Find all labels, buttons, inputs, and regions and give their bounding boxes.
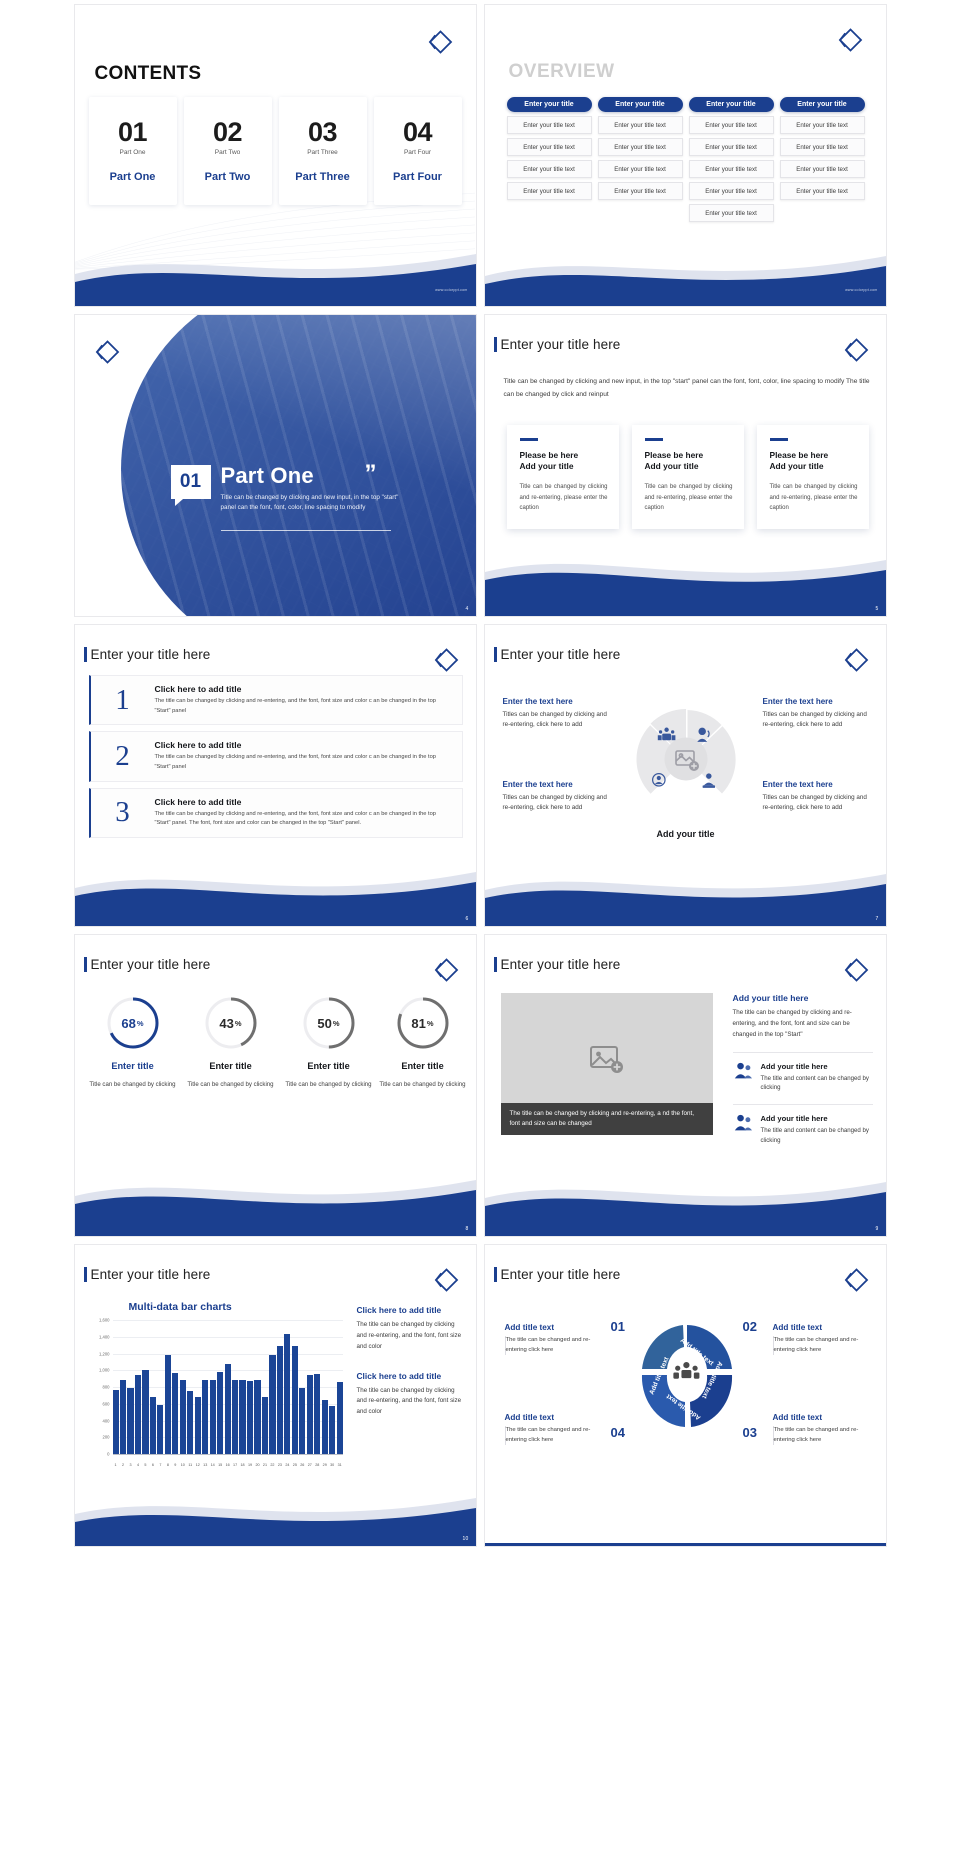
- page-number: 4: [466, 606, 469, 612]
- footer-wave: [485, 1174, 886, 1236]
- side-content: Add your title here The title can be cha…: [733, 993, 873, 1146]
- stat-desc: Title can be changed by clicking: [183, 1080, 279, 1090]
- cycle-ring-diagram: Add title text Add title text Add title …: [633, 1317, 741, 1435]
- overview-cell[interactable]: Enter your title text: [689, 204, 774, 222]
- feature-card[interactable]: Please be here Add your title Title can …: [507, 425, 619, 529]
- page-title: Enter your title here: [501, 337, 621, 352]
- percent-unit: %: [333, 1019, 340, 1028]
- card-accent-dash: [520, 438, 538, 441]
- slide-cycle-diagram: Enter your title here Add title text The…: [484, 1244, 887, 1547]
- stat-desc: Title can be changed by clicking: [85, 1080, 181, 1090]
- chart-x-tick-label: 13: [202, 1463, 208, 1467]
- row-paragraph: The title can be changed by clicking and…: [155, 697, 452, 716]
- chart-bar: [165, 1355, 171, 1456]
- block-heading: Enter the text here: [503, 780, 613, 789]
- stat-label: Enter title: [281, 1061, 377, 1071]
- percent-value: 50: [317, 1016, 331, 1031]
- row-heading: Click here to add title: [155, 684, 452, 694]
- chart-x-tick-label: 1: [113, 1463, 119, 1467]
- overview-column: Enter your title Enter your title text E…: [689, 97, 774, 222]
- overview-cell[interactable]: Enter your title text: [780, 138, 865, 156]
- slide-numbered-list: Enter your title here 1 Click here to ad…: [74, 624, 477, 927]
- block-paragraph: Titles can be changed by clicking and re…: [763, 710, 873, 731]
- row-heading: Click here to add title: [155, 740, 452, 750]
- cycle-number: 03: [743, 1425, 757, 1440]
- card-heading-1: Please be here: [770, 450, 858, 461]
- footer-wave: [485, 244, 886, 306]
- chart-x-tick-label: 31: [337, 1463, 343, 1467]
- cycle-number: 04: [611, 1425, 625, 1440]
- chart-x-tick-label: 26: [299, 1463, 305, 1467]
- numbered-row[interactable]: 2 Click here to add title The title can …: [89, 731, 463, 781]
- chart-x-tick-label: 22: [269, 1463, 275, 1467]
- chart-bar: [195, 1397, 201, 1455]
- chart-x-tick-label: 14: [210, 1463, 216, 1467]
- diagram-text-block: Enter the text here Titles can be change…: [763, 780, 873, 814]
- percent-stat: 43% Enter title Title can be changed by …: [183, 995, 279, 1090]
- overview-column: Enter your title Enter your title text E…: [507, 97, 592, 222]
- chart-bar: [127, 1388, 133, 1455]
- quadrant-paragraph: The title can be changed and re-entering…: [773, 1336, 869, 1355]
- overview-cell[interactable]: Enter your title text: [507, 138, 592, 156]
- chart-x-tick-label: 27: [307, 1463, 313, 1467]
- brand-logo-icon: [424, 27, 454, 57]
- chart-x-tick-label: 15: [217, 1463, 223, 1467]
- side-heading: Add your title here: [733, 993, 873, 1003]
- item-heading: Add your title here: [761, 1062, 873, 1071]
- title-accent-bar: [494, 647, 498, 662]
- chart-bar: [187, 1391, 193, 1455]
- page-title: Enter your title here: [501, 957, 621, 972]
- numbered-row[interactable]: 3 Click here to add title The title can …: [89, 788, 463, 838]
- card-number: 02: [213, 119, 242, 146]
- brand-logo-icon: [834, 25, 864, 55]
- chart-y-tick-label: 0: [107, 1452, 109, 1457]
- chart-y-tick-label: 200: [103, 1435, 110, 1440]
- chart-y-tick-label: 1,000: [99, 1368, 109, 1373]
- chart-bar: [217, 1372, 223, 1455]
- slide-percent-rings: Enter your title here 68% Enter title Ti…: [74, 934, 477, 1237]
- brand-logo-icon: [430, 955, 460, 985]
- footer-wave: [75, 864, 476, 926]
- numbered-row[interactable]: 1 Click here to add title The title can …: [89, 675, 463, 725]
- block-paragraph: Titles can be changed by clicking and re…: [503, 710, 613, 731]
- chart-x-tick-label: 5: [142, 1463, 148, 1467]
- card-accent-dash: [645, 438, 663, 441]
- chart-y-tick-label: 1,200: [99, 1351, 109, 1356]
- chart-axis-line: [113, 1454, 343, 1455]
- overview-cell[interactable]: Enter your title text: [689, 182, 774, 200]
- footer-bar: [485, 1543, 886, 1546]
- chart-bar: [322, 1400, 328, 1455]
- card-heading-2: Add your title: [520, 461, 608, 472]
- chart-bar: [225, 1364, 231, 1455]
- chart-bar: [142, 1370, 148, 1455]
- feature-card-list: Please be here Add your title Title can …: [507, 425, 869, 529]
- card-heading-1: Please be here: [520, 450, 608, 461]
- card-paragraph: Title can be changed by clicking and re-…: [520, 482, 608, 514]
- percent-stat: 50% Enter title Title can be changed by …: [281, 995, 377, 1090]
- overview-cell[interactable]: Enter your title text: [507, 182, 592, 200]
- page-number: 8: [466, 1226, 469, 1232]
- chart-bar: [202, 1380, 208, 1455]
- site-url: www.colorppt.com: [435, 288, 467, 292]
- chart-x-tick-label: 30: [329, 1463, 335, 1467]
- title-accent-bar: [84, 1267, 88, 1282]
- feature-card[interactable]: Please be here Add your title Title can …: [632, 425, 744, 529]
- chart-x-tick-label: 29: [322, 1463, 328, 1467]
- chart-bar: [307, 1375, 313, 1455]
- column-pill[interactable]: Enter your title: [689, 97, 774, 112]
- section-description: Title can be changed by clicking and new…: [221, 493, 399, 513]
- overview-cell[interactable]: Enter your title text: [689, 160, 774, 178]
- contents-heading: CONTENTS: [95, 63, 202, 85]
- chart-y-tick-label: 1,600: [99, 1318, 109, 1323]
- card-label: Part Four: [393, 171, 442, 183]
- card-label: Part Two: [205, 171, 251, 183]
- chart-bar: [172, 1373, 178, 1455]
- percent-value: 43: [219, 1016, 233, 1031]
- row-paragraph: The title can be changed by clicking and…: [155, 810, 452, 829]
- cycle-quadrant-text: Add title text The title can be changed …: [773, 1413, 869, 1445]
- page-number: 11: [873, 1536, 879, 1542]
- chart-bar: [299, 1388, 305, 1455]
- stat-label: Enter title: [183, 1061, 279, 1071]
- brand-logo-icon: [840, 645, 870, 675]
- chart-bar: [247, 1381, 253, 1455]
- list-item[interactable]: Add your title here The title and conten…: [733, 1104, 873, 1146]
- page-number: 10: [463, 1536, 469, 1542]
- overview-cell[interactable]: Enter your title text: [598, 160, 683, 178]
- diagram-text-block: Enter the text here Titles can be change…: [503, 780, 613, 814]
- title-accent-bar: [84, 647, 88, 662]
- chart-bar: [135, 1375, 141, 1455]
- person-icon: [733, 1114, 753, 1146]
- column-pill[interactable]: Enter your title: [598, 97, 683, 112]
- block-heading: Enter the text here: [503, 697, 613, 706]
- page-number: 7: [876, 916, 879, 922]
- stat-desc: Title can be changed by clicking: [281, 1080, 377, 1090]
- diagram-text-block: Enter the text here Titles can be change…: [503, 697, 613, 731]
- chart-x-tick-label: 4: [135, 1463, 141, 1467]
- progress-ring: 68%: [105, 995, 161, 1051]
- title-accent-bar: [494, 957, 498, 972]
- chart-x-tick-label: 10: [180, 1463, 186, 1467]
- chart-x-tick-label: 23: [277, 1463, 283, 1467]
- card-subtitle: Part Three: [307, 149, 338, 156]
- page-number: 9: [876, 1226, 879, 1232]
- footer-wave: [485, 864, 886, 926]
- chart-x-tick-label: 3: [127, 1463, 133, 1467]
- cycle-number: 01: [611, 1319, 625, 1334]
- chart-bar: [292, 1346, 298, 1455]
- side-paragraph: The title can be changed by clicking and…: [357, 1320, 465, 1353]
- person-icon: [733, 1062, 753, 1094]
- chart-bar: [284, 1334, 290, 1455]
- quadrant-paragraph: The title can be changed and re-entering…: [505, 1426, 601, 1445]
- slide-three-cards: Enter your title here Title can be chang…: [484, 314, 887, 617]
- overview-cell[interactable]: Enter your title text: [689, 138, 774, 156]
- chart-bar: [210, 1380, 216, 1455]
- overview-cell[interactable]: Enter your title text: [780, 160, 865, 178]
- card-number: 04: [403, 119, 432, 146]
- row-heading: Click here to add title: [155, 797, 452, 807]
- chart-x-tick-label: 17: [232, 1463, 238, 1467]
- slide-deck: CONTENTS 01 Part One Part One 02 Part Tw…: [0, 0, 960, 1551]
- divider-rule: [221, 530, 391, 531]
- percent-value: 68: [121, 1016, 135, 1031]
- chart-bar: [254, 1380, 260, 1455]
- percent-unit: %: [137, 1019, 144, 1028]
- chart-x-tick-label: 7: [157, 1463, 163, 1467]
- percent-value: 81: [411, 1016, 425, 1031]
- overview-cell[interactable]: Enter your title text: [507, 116, 592, 134]
- quadrant-paragraph: The title can be changed and re-entering…: [773, 1426, 869, 1445]
- chart-x-tick-label: 6: [150, 1463, 156, 1467]
- slide-section-cover: 01 Part One ” Title can be changed by cl…: [74, 314, 477, 617]
- section-title: Part One: [221, 463, 314, 489]
- side-heading: Click here to add title: [357, 1305, 465, 1315]
- overview-cell[interactable]: Enter your title text: [689, 116, 774, 134]
- chart-bar: [314, 1374, 320, 1455]
- chart-bar: [150, 1397, 156, 1455]
- item-heading: Add your title here: [761, 1114, 873, 1123]
- item-paragraph: The title and content can be changed by …: [761, 1126, 873, 1146]
- chart-x-tick-label: 9: [172, 1463, 178, 1467]
- side-paragraph: The title can be changed by clicking and…: [357, 1386, 465, 1419]
- numbered-row-list: 1 Click here to add title The title can …: [89, 675, 463, 844]
- page-number: 6: [466, 916, 469, 922]
- chart-x-tick-label: 18: [239, 1463, 245, 1467]
- overview-cell[interactable]: Enter your title text: [780, 116, 865, 134]
- row-number: 1: [91, 686, 155, 715]
- card-paragraph: Title can be changed by clicking and re-…: [770, 482, 858, 514]
- quote-mark-icon: ”: [365, 460, 377, 488]
- percent-unit: %: [235, 1019, 242, 1028]
- slide-image-list: Enter your title here The title can be c…: [484, 934, 887, 1237]
- chart-x-tick-label: 25: [292, 1463, 298, 1467]
- card-paragraph: Title can be changed by clicking and re-…: [645, 482, 733, 514]
- bar-chart: 02004006008001,0001,2001,4001,600 123456…: [87, 1317, 349, 1477]
- stat-desc: Title can be changed by clicking: [375, 1080, 471, 1090]
- chart-y-tick-label: 1,400: [99, 1334, 109, 1339]
- quadrant-heading: Add title text: [505, 1323, 601, 1332]
- chart-x-tick-label: 12: [195, 1463, 201, 1467]
- title-accent-bar: [494, 337, 498, 352]
- quadrant-heading: Add title text: [773, 1413, 869, 1422]
- overview-cell[interactable]: Enter your title text: [780, 182, 865, 200]
- slide-contents: CONTENTS 01 Part One Part One 02 Part Tw…: [74, 4, 477, 307]
- side-paragraph: The title can be changed by clicking and…: [733, 1008, 873, 1041]
- card-heading-2: Add your title: [645, 461, 733, 472]
- progress-ring: 43%: [203, 995, 259, 1051]
- site-url: www.colorppt.com: [845, 288, 877, 292]
- lead-paragraph: Title can be changed by clicking and new…: [504, 375, 870, 401]
- chart-x-tick-label: 28: [314, 1463, 320, 1467]
- card-subtitle: Part Two: [215, 149, 241, 156]
- row-number: 3: [91, 798, 155, 827]
- overview-heading: OVERVIEW: [509, 61, 615, 83]
- page-title: Enter your title here: [91, 1267, 211, 1282]
- slide-bar-chart: Enter your title here Multi-data bar cha…: [74, 1244, 477, 1547]
- chart-y-tick-label: 600: [103, 1401, 110, 1406]
- chart-x-tick-label: 11: [187, 1463, 193, 1467]
- stat-label: Enter title: [85, 1061, 181, 1071]
- chart-bar: [329, 1406, 335, 1455]
- overview-cell[interactable]: Enter your title text: [507, 160, 592, 178]
- slide-overview: OVERVIEW Enter your title Enter your tit…: [484, 4, 887, 307]
- chart-x-tick-label: 2: [120, 1463, 126, 1467]
- percent-unit: %: [427, 1019, 434, 1028]
- page-title: Enter your title here: [91, 647, 211, 662]
- page-title: Enter your title here: [91, 957, 211, 972]
- progress-ring: 50%: [301, 995, 357, 1051]
- slide-circular-diagram: Enter your title here Enter the text her…: [484, 624, 887, 927]
- footer-wave: [75, 1484, 476, 1546]
- brand-logo-icon: [91, 337, 121, 367]
- overview-cell[interactable]: Enter your title text: [598, 182, 683, 200]
- section-number-badge: 01: [171, 465, 211, 499]
- brand-logo-icon: [840, 1265, 870, 1295]
- page-number: 5: [876, 606, 879, 612]
- chart-x-tick-label: 19: [247, 1463, 253, 1467]
- card-number: 03: [308, 119, 337, 146]
- diagram-center-label: Add your title: [630, 829, 742, 839]
- chart-x-tick-label: 8: [165, 1463, 171, 1467]
- quadrant-heading: Add title text: [773, 1323, 869, 1332]
- title-accent-bar: [494, 1267, 498, 1282]
- contents-card[interactable]: 04 Part Four Part Four: [374, 97, 462, 205]
- chart-bar: [157, 1405, 163, 1455]
- brand-logo-icon: [840, 955, 870, 985]
- brand-logo-icon: [430, 1265, 460, 1295]
- chart-bar: [262, 1397, 268, 1455]
- block-heading: Enter the text here: [763, 697, 873, 706]
- block-heading: Enter the text here: [763, 780, 873, 789]
- chart-bar: [337, 1382, 343, 1455]
- side-heading: Click here to add title: [357, 1371, 465, 1381]
- quadrant-paragraph: The title can be changed and re-entering…: [505, 1336, 601, 1355]
- chart-bar: [269, 1355, 275, 1456]
- cycle-quadrant-text: Add title text The title can be changed …: [505, 1323, 601, 1355]
- progress-ring: 81%: [395, 995, 451, 1051]
- card-label: Part Three: [295, 171, 349, 183]
- segmented-donut-diagram: [630, 703, 742, 815]
- image-placeholder-icon: [590, 1046, 624, 1074]
- title-accent-bar: [84, 957, 88, 972]
- chart-bar: [120, 1380, 126, 1455]
- chart-side-text: Click here to add title The title can be…: [357, 1305, 465, 1418]
- card-number: 01: [118, 119, 147, 146]
- overview-cell[interactable]: Enter your title text: [598, 138, 683, 156]
- chart-bar: [113, 1390, 119, 1455]
- card-accent-dash: [770, 438, 788, 441]
- card-heading-1: Please be here: [645, 450, 733, 461]
- page-title: Enter your title here: [501, 647, 621, 662]
- chart-x-tick-label: 21: [262, 1463, 268, 1467]
- item-paragraph: The title and content can be changed by …: [761, 1074, 873, 1094]
- chart-bar: [239, 1380, 245, 1455]
- overview-columns: Enter your title Enter your title text E…: [507, 97, 865, 222]
- contents-card[interactable]: 01 Part One Part One: [89, 97, 177, 205]
- block-paragraph: Titles can be changed by clicking and re…: [763, 793, 873, 814]
- chart-bar: [232, 1380, 238, 1455]
- cycle-quadrant-text: Add title text The title can be changed …: [773, 1323, 869, 1355]
- card-subtitle: Part One: [119, 149, 145, 156]
- card-label: Part One: [110, 171, 156, 183]
- percent-stat: 81% Enter title Title can be changed by …: [375, 995, 471, 1090]
- chart-y-tick-label: 800: [103, 1385, 110, 1390]
- card-subtitle: Part Four: [404, 149, 431, 156]
- contents-card-list: 01 Part One Part One 02 Part Two Part Tw…: [89, 97, 462, 205]
- chart-bar: [277, 1346, 283, 1455]
- footer-wave: [75, 1174, 476, 1236]
- footer-wave: [485, 554, 886, 616]
- chart-bar: [180, 1380, 186, 1455]
- row-paragraph: The title can be changed by clicking and…: [155, 753, 452, 772]
- brand-logo-icon: [840, 335, 870, 365]
- card-heading-2: Add your title: [770, 461, 858, 472]
- chart-x-tick-label: 24: [284, 1463, 290, 1467]
- contents-card[interactable]: 03 Part Three Part Three: [279, 97, 367, 205]
- cycle-number: 02: [743, 1319, 757, 1334]
- overview-cell[interactable]: Enter your title text: [598, 116, 683, 134]
- column-pill[interactable]: Enter your title: [507, 97, 592, 112]
- chart-bars: [113, 1321, 343, 1455]
- list-item[interactable]: Add your title here The title and conten…: [733, 1052, 873, 1094]
- block-paragraph: Titles can be changed by clicking and re…: [503, 793, 613, 814]
- chart-y-tick-label: 400: [103, 1418, 110, 1423]
- diagram-text-block: Enter the text here Titles can be change…: [763, 697, 873, 731]
- contents-card[interactable]: 02 Part Two Part Two: [184, 97, 272, 205]
- quadrant-heading: Add title text: [505, 1413, 601, 1422]
- chart-title: Multi-data bar charts: [129, 1301, 232, 1313]
- overview-column: Enter your title Enter your title text E…: [780, 97, 865, 222]
- page-title: Enter your title here: [501, 1267, 621, 1282]
- image-caption: The title can be changed by clicking and…: [501, 1103, 713, 1135]
- stat-label: Enter title: [375, 1061, 471, 1071]
- cycle-quadrant-text: Add title text The title can be changed …: [505, 1413, 601, 1445]
- feature-card[interactable]: Please be here Add your title Title can …: [757, 425, 869, 529]
- chart-x-tick-label: 16: [225, 1463, 231, 1467]
- brand-logo-icon: [430, 645, 460, 675]
- column-pill[interactable]: Enter your title: [780, 97, 865, 112]
- chart-x-tick-label: 20: [254, 1463, 260, 1467]
- overview-column: Enter your title Enter your title text E…: [598, 97, 683, 222]
- chart-x-axis: 1234567891011121314151617181920212223242…: [113, 1463, 343, 1467]
- chart-plot-area: 02004006008001,0001,2001,4001,600: [113, 1321, 343, 1455]
- percent-stat: 68% Enter title Title can be changed by …: [85, 995, 181, 1090]
- row-number: 2: [91, 742, 155, 771]
